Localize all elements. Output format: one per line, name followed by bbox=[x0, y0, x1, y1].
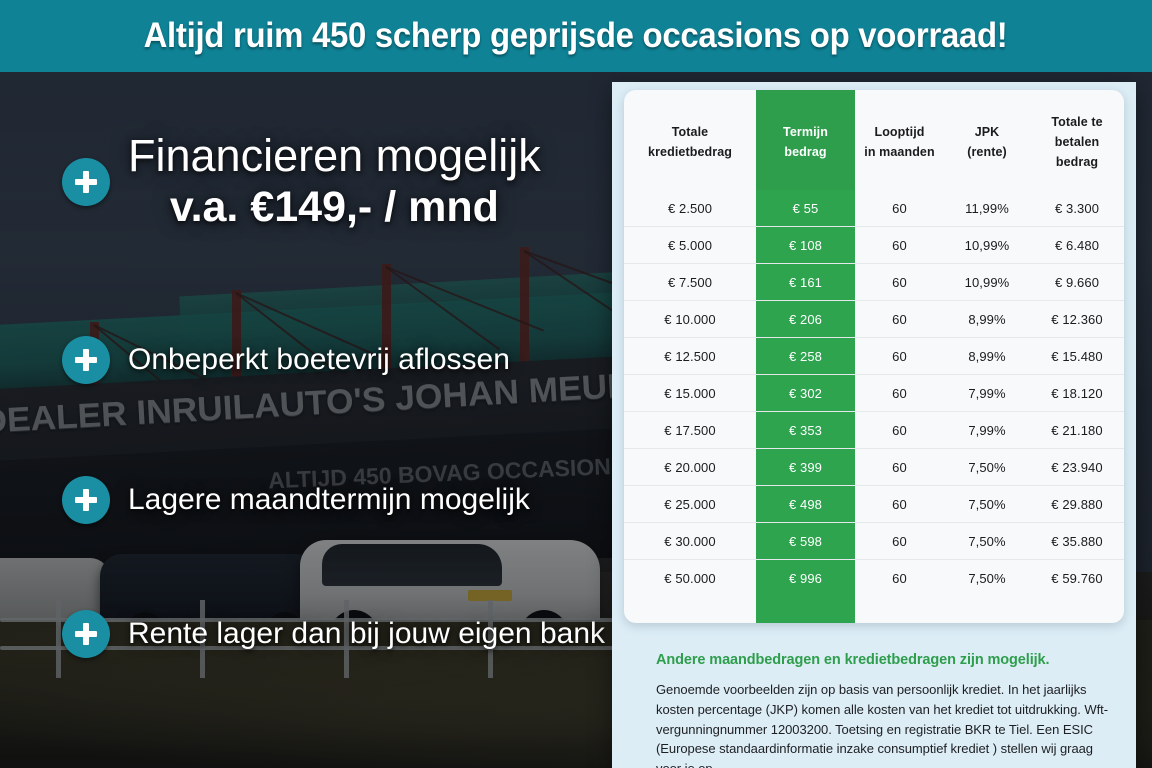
table-cell: 10,99% bbox=[944, 227, 1030, 264]
table-cell: 8,99% bbox=[944, 338, 1030, 375]
benefit-label: Rente lager dan bij jouw eigen bank bbox=[128, 617, 605, 651]
table-cell: 8,99% bbox=[944, 301, 1030, 338]
table-cell-highlighted: € 996 bbox=[756, 560, 855, 597]
table-header-cell-highlighted: Termijn bedrag bbox=[756, 90, 855, 190]
disclaimer-body: Genoemde voorbeelden zijn op basis van p… bbox=[656, 680, 1108, 768]
table-cell: 11,99% bbox=[944, 190, 1030, 227]
table-cell: 60 bbox=[855, 190, 944, 227]
disclaimer-block: Andere maandbedragen en kredietbedragen … bbox=[656, 652, 1108, 768]
plus-icon bbox=[62, 336, 110, 384]
table-cell: € 23.940 bbox=[1030, 449, 1124, 486]
table-cell: € 30.000 bbox=[624, 523, 756, 560]
table-cell: € 10.000 bbox=[624, 301, 756, 338]
financing-headline-line2: v.a. €149,- / mnd bbox=[128, 182, 541, 234]
table-cell: 7,50% bbox=[944, 449, 1030, 486]
financing-headline: Financieren mogelijk v.a. €149,- / mnd bbox=[128, 130, 541, 234]
table-cell: € 3.300 bbox=[1030, 190, 1124, 227]
table-body: € 2.500€ 556011,99%€ 3.300€ 5.000€ 10860… bbox=[624, 190, 1124, 596]
table-cell: € 9.660 bbox=[1030, 264, 1124, 301]
benefits-list: Financieren mogelijk v.a. €149,- / mnd O… bbox=[0, 72, 612, 768]
table-cell: € 6.480 bbox=[1030, 227, 1124, 264]
plus-icon bbox=[62, 476, 110, 524]
table-row: € 17.500€ 353607,99%€ 21.180 bbox=[624, 412, 1124, 449]
table-cell: € 59.760 bbox=[1030, 560, 1124, 597]
credit-promo-banner: Altijd ruim 450 scherp geprijsde occasio… bbox=[0, 0, 1152, 768]
table-row: € 7.500€ 1616010,99%€ 9.660 bbox=[624, 264, 1124, 301]
table-cell: 60 bbox=[855, 560, 944, 597]
table-row: € 2.500€ 556011,99%€ 3.300 bbox=[624, 190, 1124, 227]
table-cell: € 29.880 bbox=[1030, 486, 1124, 523]
header-line-2: in maanden bbox=[864, 145, 934, 159]
header-line-1: Termijn bbox=[783, 125, 828, 139]
table-cell: 7,99% bbox=[944, 375, 1030, 412]
header-title: Altijd ruim 450 scherp geprijsde occasio… bbox=[144, 16, 1008, 56]
header-line-1: JPK bbox=[975, 125, 1000, 139]
table-cell: € 5.000 bbox=[624, 227, 756, 264]
table-cell: 7,50% bbox=[944, 560, 1030, 597]
benefit-item-financing: Financieren mogelijk v.a. €149,- / mnd bbox=[62, 130, 541, 234]
table-cell-highlighted: € 353 bbox=[756, 412, 855, 449]
table-cell: € 15.000 bbox=[624, 375, 756, 412]
table-cell: 60 bbox=[855, 449, 944, 486]
table-cell: 60 bbox=[855, 264, 944, 301]
table-cell-highlighted: € 108 bbox=[756, 227, 855, 264]
header-line-2: kredietbedrag bbox=[648, 145, 732, 159]
header-bar: Altijd ruim 450 scherp geprijsde occasio… bbox=[0, 0, 1152, 72]
benefit-item-boetevrij: Onbeperkt boetevrij aflossen bbox=[62, 336, 510, 384]
table-cell: € 21.180 bbox=[1030, 412, 1124, 449]
header-line-1: Looptijd bbox=[874, 125, 924, 139]
plus-icon bbox=[62, 610, 110, 658]
table-cell: € 7.500 bbox=[624, 264, 756, 301]
table-row: € 50.000€ 996607,50%€ 59.760 bbox=[624, 560, 1124, 597]
table-header-cell: Looptijd in maanden bbox=[855, 90, 944, 190]
header-line-2: bedrag bbox=[784, 145, 826, 159]
plus-icon bbox=[62, 158, 110, 206]
table-row: € 12.500€ 258608,99%€ 15.480 bbox=[624, 338, 1124, 375]
table-row: € 10.000€ 206608,99%€ 12.360 bbox=[624, 301, 1124, 338]
table-cell-highlighted: € 498 bbox=[756, 486, 855, 523]
table-cell-highlighted: € 258 bbox=[756, 338, 855, 375]
table-cell: 7,50% bbox=[944, 523, 1030, 560]
credit-info-panel: Totale kredietbedrag Termijn bedrag Loop… bbox=[612, 82, 1136, 768]
disclaimer-title: Andere maandbedragen en kredietbedragen … bbox=[656, 652, 1108, 668]
header-line-1: Totale bbox=[672, 125, 708, 139]
header-line-2: betalen bedrag bbox=[1055, 135, 1099, 169]
table-cell: € 12.500 bbox=[624, 338, 756, 375]
table-cell: 60 bbox=[855, 486, 944, 523]
table-cell: 10,99% bbox=[944, 264, 1030, 301]
table-cell-highlighted: € 598 bbox=[756, 523, 855, 560]
table-row: € 15.000€ 302607,99%€ 18.120 bbox=[624, 375, 1124, 412]
table-cell: € 18.120 bbox=[1030, 375, 1124, 412]
table-cell-highlighted: € 399 bbox=[756, 449, 855, 486]
table-cell: 60 bbox=[855, 338, 944, 375]
table-cell: € 15.480 bbox=[1030, 338, 1124, 375]
financing-headline-line1: Financieren mogelijk bbox=[128, 130, 541, 182]
header-line-2: (rente) bbox=[967, 145, 1007, 159]
table-cell: 60 bbox=[855, 523, 944, 560]
table-cell-highlighted: € 206 bbox=[756, 301, 855, 338]
benefit-item-maandtermijn: Lagere maandtermijn mogelijk bbox=[62, 476, 530, 524]
table-cell-highlighted: € 161 bbox=[756, 264, 855, 301]
table-row: € 25.000€ 498607,50%€ 29.880 bbox=[624, 486, 1124, 523]
table-header-row: Totale kredietbedrag Termijn bedrag Loop… bbox=[624, 90, 1124, 190]
table-cell: € 50.000 bbox=[624, 560, 756, 597]
table-cell: 7,99% bbox=[944, 412, 1030, 449]
header-line-1: Totale te bbox=[1051, 115, 1102, 129]
table-row: € 30.000€ 598607,50%€ 35.880 bbox=[624, 523, 1124, 560]
benefit-label: Lagere maandtermijn mogelijk bbox=[128, 483, 530, 517]
table-cell: 60 bbox=[855, 227, 944, 264]
table-cell: € 35.880 bbox=[1030, 523, 1124, 560]
table-row: € 20.000€ 399607,50%€ 23.940 bbox=[624, 449, 1124, 486]
table-cell: € 25.000 bbox=[624, 486, 756, 523]
table-cell: 60 bbox=[855, 412, 944, 449]
benefit-item-rente: Rente lager dan bij jouw eigen bank bbox=[62, 610, 605, 658]
rate-table-card: Totale kredietbedrag Termijn bedrag Loop… bbox=[624, 90, 1124, 623]
table-cell: 60 bbox=[855, 375, 944, 412]
table-cell: € 2.500 bbox=[624, 190, 756, 227]
rate-table: Totale kredietbedrag Termijn bedrag Loop… bbox=[624, 90, 1124, 596]
table-cell: € 20.000 bbox=[624, 449, 756, 486]
table-row: € 5.000€ 1086010,99%€ 6.480 bbox=[624, 227, 1124, 264]
table-header-cell: JPK (rente) bbox=[944, 90, 1030, 190]
table-cell-highlighted: € 55 bbox=[756, 190, 855, 227]
table-cell-highlighted: € 302 bbox=[756, 375, 855, 412]
table-header-cell: Totale kredietbedrag bbox=[624, 90, 756, 190]
benefit-label: Onbeperkt boetevrij aflossen bbox=[128, 343, 510, 377]
table-cell: 7,50% bbox=[944, 486, 1030, 523]
table-cell: 60 bbox=[855, 301, 944, 338]
table-cell: € 12.360 bbox=[1030, 301, 1124, 338]
table-header-cell: Totale te betalen bedrag bbox=[1030, 90, 1124, 190]
table-cell: € 17.500 bbox=[624, 412, 756, 449]
